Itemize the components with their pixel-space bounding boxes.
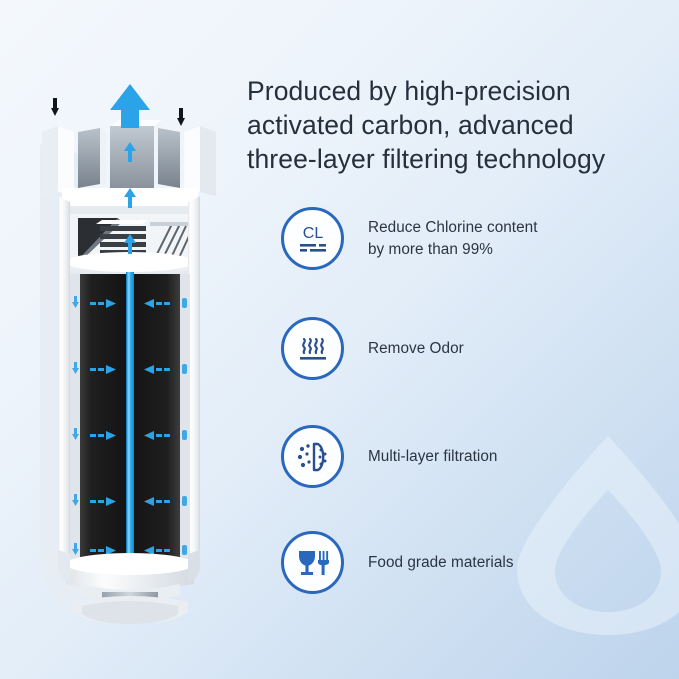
feature-label-line-1: Multi-layer filtration <box>368 446 497 468</box>
page-title: Produced by high-precision activated car… <box>247 74 667 176</box>
feature-item-odor: Remove Odor <box>281 317 464 380</box>
multi-layer-filter-icon <box>281 425 344 488</box>
odor-steam-icon <box>281 317 344 380</box>
infographic-canvas: Produced by high-precision activated car… <box>0 0 679 679</box>
chlorine-cl-icon: CL <box>281 207 344 270</box>
feature-label-line-1: Food grade materials <box>368 552 514 574</box>
food-grade-glass-fork-icon <box>281 531 344 594</box>
svg-text:CL: CL <box>302 225 323 242</box>
feature-label-line-2: by more than 99% <box>368 239 538 261</box>
feature-label-line-1: Reduce Chlorine content <box>368 217 538 239</box>
feature-item-filtration: Multi-layer filtration <box>281 425 497 488</box>
headline-line-3: three-layer filtering technology <box>247 142 667 176</box>
headline-line-1: Produced by high-precision <box>247 74 667 108</box>
water-drop-watermark <box>503 428 679 643</box>
feature-label-food-grade: Food grade materials <box>368 552 514 574</box>
feature-label-filtration: Multi-layer filtration <box>368 446 497 468</box>
feature-item-food-grade: Food grade materials <box>281 531 514 594</box>
headline-line-2: activated carbon, advanced <box>247 108 667 142</box>
water-filter-cartridge-cutaway <box>22 84 237 624</box>
feature-label-chlorine: Reduce Chlorine content by more than 99% <box>368 217 538 261</box>
feature-label-odor: Remove Odor <box>368 338 464 360</box>
feature-item-chlorine: CL Reduce Chlorine content by more than … <box>281 207 538 270</box>
feature-label-line-1: Remove Odor <box>368 338 464 360</box>
